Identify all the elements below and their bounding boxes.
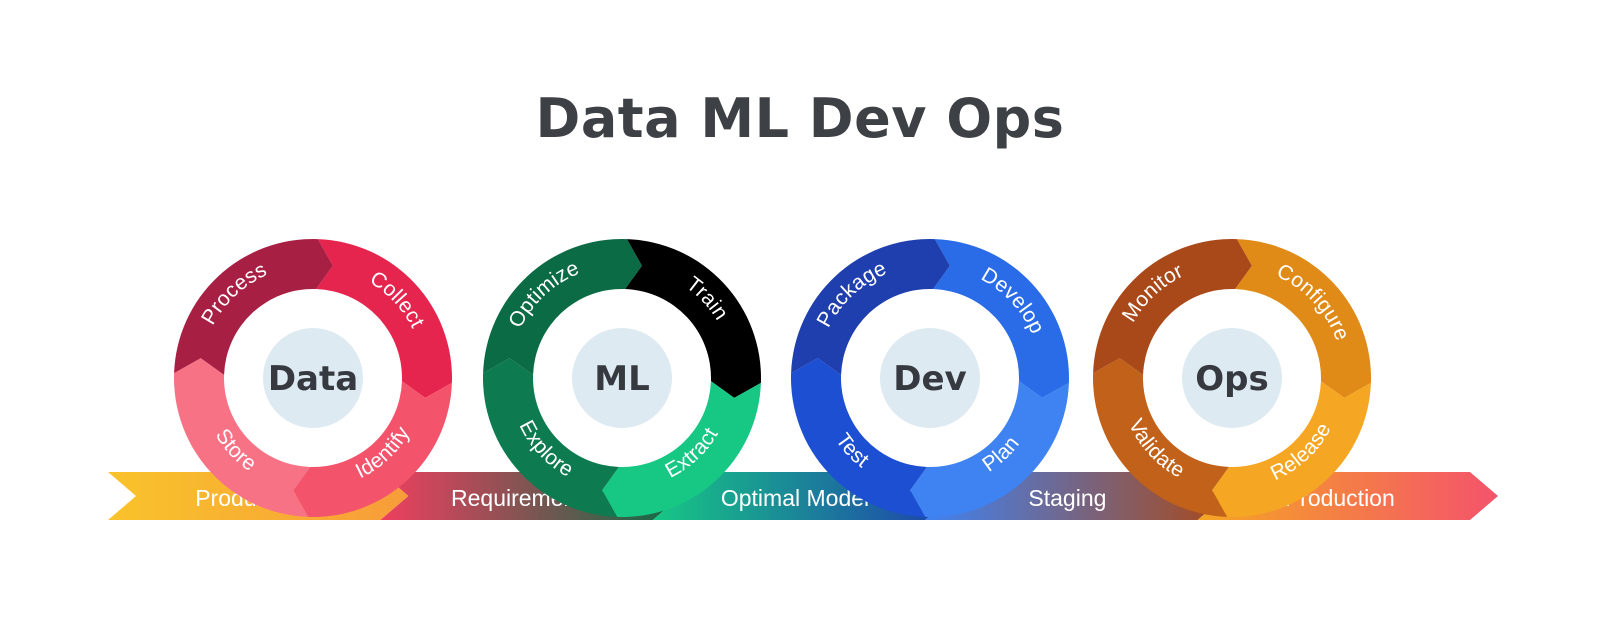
hub-label-ops: Ops [1195,359,1268,399]
ring-dev: DevelopPlanTestPackageDev [791,239,1069,517]
hub-label-dev: Dev [893,359,966,399]
hub-label-ml: ML [594,359,650,399]
hub-label-data: Data [268,359,358,399]
ring-ml: TrainExtractExploreOptimizeML [483,239,761,517]
ring-ops: ConfigureReleaseValidateMonitorOps [1093,239,1371,517]
diagram-canvas: Data ML Dev Ops ProductionRequirementsOp… [0,0,1600,634]
dataml-devops-diagram: ProductionRequirementsOptimal ModelStagi… [0,0,1600,634]
ring-data: CollectIdentifyStoreProcessData [174,239,452,517]
banner-label: Staging [1028,485,1106,511]
